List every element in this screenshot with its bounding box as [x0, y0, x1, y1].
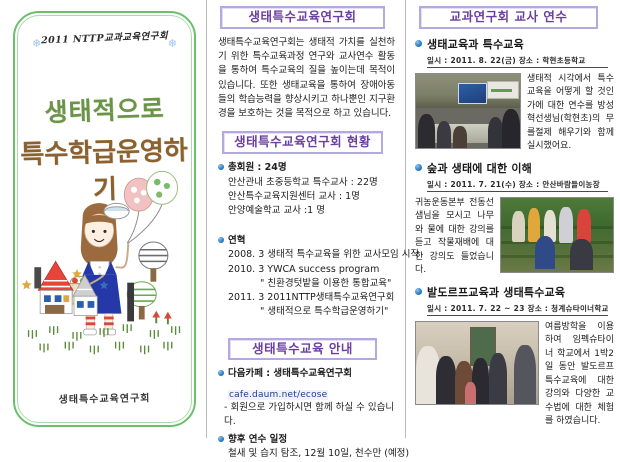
bullet-dot-icon	[218, 370, 224, 376]
cafe-label: 다음카페 : 생태특수교육연구회	[228, 367, 352, 381]
training-item-meta: 일시 : 2011. 7. 22 ~ 23 장소 : 청계슈타이너학교	[427, 303, 608, 316]
section-header-about: 생태특수교육연구회	[220, 6, 385, 29]
bullet-dot-icon	[415, 40, 422, 47]
training-item-title: 발도르프교육과 생태특수교육	[427, 284, 565, 300]
classroom-photo	[415, 73, 521, 149]
training-item-title: 숲과 생태에 대한 이해	[427, 160, 532, 176]
section-header-status: 생태특수교육연구회 현황	[222, 131, 383, 154]
history-row: 2011. 3 2011NTTP생태특수교육연구회	[228, 291, 397, 305]
history-year: 2010. 3	[228, 264, 264, 275]
list-item: 향후 연수 일정	[218, 433, 397, 447]
status-members-list: 총회원 : 24명 안산관내 초중등학교 특수교사 : 22명 안산특수교육지원…	[218, 161, 397, 219]
history-year: 2011. 3	[228, 292, 264, 303]
history-text: YWCA success program	[267, 264, 379, 275]
tree-group	[127, 242, 168, 321]
training-item-body: 귀농운동본부 전동선 샘님을 모시고 나무와 물에 대한 강의를 듣고 작물재배…	[415, 197, 614, 278]
list-item: 다음카페 : 생태특수교육연구회	[218, 367, 397, 381]
section-header-info: 생태특수교육 안내	[228, 338, 377, 361]
section-header-about-label: 생태특수교육연구회	[226, 10, 379, 24]
brochure-page: 2011 NTTP교과교육연구회 ❄ ❄ 생태적으로 특수학급운영하기	[0, 0, 620, 438]
members-total: 총회원 : 24명	[228, 161, 287, 175]
members-line-3: 안양예술학교 교사 :1 명	[228, 204, 397, 218]
section-header-status-label: 생태특수교육연구회 현황	[228, 135, 377, 149]
bullet-dot-icon	[218, 436, 224, 442]
about-paragraph: 생태특수교육연구회는 생태적 가치를 실천하기 위한 특수교육과정 연구와 교사…	[218, 36, 395, 122]
members-line-2: 안산특수교육지원센터 교사 : 1명	[228, 190, 397, 204]
training-item-title: 생태교육과 특수교육	[427, 36, 524, 52]
training-item: 숲과 생태에 대한 이해 일시 : 2011. 7. 21(수) 장소 : 안산…	[415, 160, 614, 278]
history-label: 연혁	[228, 234, 245, 248]
bullet-dot-icon	[415, 164, 422, 171]
training-item-text: 여름방학을 이용하여 임펙슈타이너 학교에서 1박2일 동안 발도르프특수교육에…	[545, 321, 614, 429]
section-header-training: 교과연구회 교사 연수	[419, 6, 598, 29]
cover-column: 2011 NTTP교과교육연구회 ❄ ❄ 생태적으로 특수학급운영하기	[0, 0, 207, 438]
cafe-url-link[interactable]: cafe.daum.net/ecose	[228, 390, 328, 400]
cover-bottom-line: 생태특수교육연구회	[15, 388, 194, 406]
tulip-group	[152, 311, 171, 325]
balloon-group	[124, 171, 177, 243]
training-item: 생태교육과 특수교육 일시 : 2011. 8. 22(금) 장소 : 학현초등…	[415, 36, 614, 154]
history-row: 2010. 3 YWCA success program	[228, 263, 397, 277]
training-item-header: 숲과 생태에 대한 이해	[415, 160, 614, 176]
training-item-body: 여름방학을 이용하여 임펙슈타이너 학교에서 1박2일 동안 발도르프특수교육에…	[415, 321, 614, 429]
training-item-meta: 일시 : 2011. 7. 21(수) 장소 : 안산바람들이농장	[427, 179, 608, 192]
cover-illustration	[15, 163, 194, 383]
history-text: 생태적 특수교육을 위한 교사모임 시작	[267, 249, 419, 260]
history-quote: " 생태적으로 특수학급운영하기"	[260, 305, 397, 319]
cafe-note: - 회원으로 가입하시면 함께 하실 수 있습니다.	[224, 401, 397, 430]
list-item: 연혁	[218, 234, 397, 248]
schedule-detail: 철새 및 습지 탐조, 12월 10일, 천수만 (예정)	[228, 447, 397, 461]
right-column: 교과연구회 교사 연수 생태교육과 특수교육 일시 : 2011. 8. 22(…	[406, 0, 620, 438]
middle-column: 생태특수교육연구회 생태특수교육연구회는 생태적 가치를 실천하기 위한 특수교…	[207, 0, 406, 438]
bullet-dot-icon	[415, 288, 422, 295]
bullet-dot-icon	[218, 164, 224, 170]
cover-frame: 2011 NTTP교과교육연구회 ❄ ❄ 생태적으로 특수학급운영하기	[13, 11, 196, 427]
members-line-1: 안산관내 초중등학교 특수교사 : 22명	[228, 176, 397, 190]
section-header-info-label: 생태특수교육 안내	[234, 342, 371, 356]
status-history-list: 연혁 2008. 3 생태적 특수교육을 위한 교사모임 시작 2010. 3 …	[218, 234, 397, 320]
training-item-text: 귀농운동본부 전동선 샘님을 모시고 나무와 물에 대한 강의를 듣고 작물재배…	[415, 197, 494, 278]
grass-field	[29, 324, 180, 354]
training-item-text: 생태적 시각에서 특수교육을 어떻게 할 것인가에 대한 연수를 방성혁선생님(…	[527, 73, 614, 154]
training-item-header: 발도르프교육과 생태특수교육	[415, 284, 614, 300]
snowflake-icon-right: ❄	[168, 38, 177, 49]
training-item-meta: 일시 : 2011. 8. 22(금) 장소 : 학현초등학교	[427, 55, 608, 68]
training-item-header: 생태교육과 특수교육	[415, 36, 614, 52]
training-item-body: 생태적 시각에서 특수교육을 어떻게 할 것인가에 대한 연수를 방성혁선생님(…	[415, 73, 614, 154]
indoor-photo	[415, 321, 539, 405]
section-header-training-label: 교과연구회 교사 연수	[425, 10, 592, 24]
bullet-dot-icon	[218, 237, 224, 243]
history-text: 2011NTTP생태특수교육연구회	[267, 292, 394, 303]
list-item: 총회원 : 24명	[218, 161, 397, 175]
cover-title-line1: 생태적으로	[14, 88, 194, 130]
info-list: 다음카페 : 생태특수교육연구회 cafe.daum.net/ecose - 회…	[218, 367, 397, 461]
training-item: 발도르프교육과 생태특수교육 일시 : 2011. 7. 22 ~ 23 장소 …	[415, 284, 614, 429]
field-photo	[500, 197, 614, 273]
history-year: 2008. 3	[228, 249, 264, 260]
schedule-label: 향후 연수 일정	[228, 433, 287, 447]
history-quote: " 친환경텃밭을 이용한 통합교육"	[260, 277, 397, 291]
history-row: 2008. 3 생태적 특수교육을 위한 교사모임 시작	[228, 248, 397, 262]
snowflake-icon-left: ❄	[32, 38, 41, 49]
